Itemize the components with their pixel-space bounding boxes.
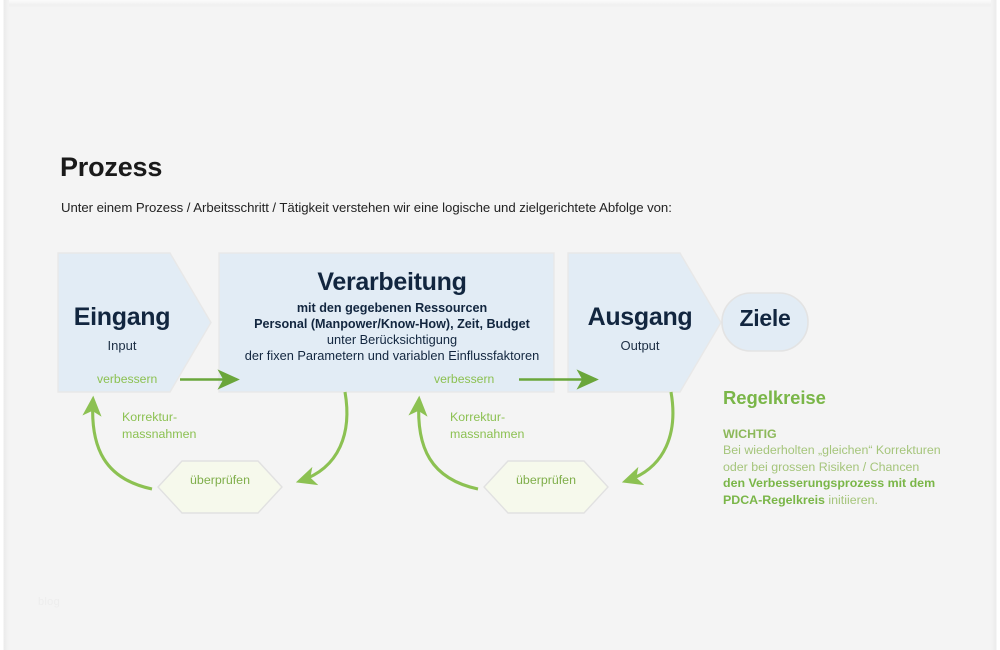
- page-subtitle: Unter einem Prozess / Arbeitsschritt / T…: [61, 200, 672, 215]
- note-line-1: Bei wiederholten „gleichen“ Korrekturen: [723, 442, 985, 458]
- loop1-correction-label: Korrektur- massnahmen: [122, 409, 196, 443]
- note-important-label: WICHTIG: [723, 426, 985, 442]
- note-line-3: den Verbesserungsprozess mit dem: [723, 475, 985, 491]
- loop1-check-label: überprüfen: [154, 473, 286, 487]
- stage-verarbeitung-details: mit den gegebenen Ressourcen Personal (M…: [216, 301, 568, 363]
- page-title: Prozess: [60, 152, 162, 183]
- watermark: blog: [38, 596, 60, 608]
- stage-eingang-title: Eingang: [62, 305, 182, 330]
- loop2-correction-line-2: massnahmen: [450, 426, 524, 443]
- sheet-edge-right: [991, 0, 1000, 650]
- loop2-improve-label: verbessern: [434, 372, 494, 386]
- regelkreise-note: WICHTIG Bei wiederholten „gleichen“ Korr…: [723, 426, 985, 508]
- sheet-edge-top: [0, 0, 1000, 8]
- loop2-correction-label: Korrektur- massnahmen: [450, 409, 524, 443]
- loop1-correction-line-2: massnahmen: [122, 426, 196, 443]
- regelkreise-heading: Regelkreise: [723, 387, 826, 409]
- loop2-check-label: überprüfen: [480, 473, 612, 487]
- loop1-correction-line-1: Korrektur-: [122, 409, 196, 426]
- verarbeitung-line-1: mit den gegebenen Ressourcen: [216, 301, 568, 317]
- stage-verarbeitung-title: Verarbeitung: [222, 268, 562, 297]
- sheet-edge-left: [0, 0, 9, 650]
- stage-ausgang-title: Ausgang: [572, 305, 708, 330]
- stage-eingang-subtitle: Input: [62, 339, 182, 352]
- verarbeitung-line-4: der fixen Parametern und variablen Einfl…: [216, 348, 568, 364]
- loop1-improve-label: verbessern: [97, 372, 157, 386]
- stage-ziele-title: Ziele: [722, 307, 808, 330]
- loop2-correction-line-1: Korrektur-: [450, 409, 524, 426]
- stage-ausgang-subtitle: Output: [572, 339, 708, 352]
- verarbeitung-line-2: Personal (Manpower/Know-How), Zeit, Budg…: [216, 317, 568, 333]
- note-pdca-rest: initiieren.: [825, 493, 878, 507]
- note-pdca-term: PDCA-Regelkreis: [723, 493, 825, 507]
- note-line-4: PDCA-Regelkreis initiieren.: [723, 492, 985, 508]
- verarbeitung-line-3: unter Berücksichtigung: [216, 332, 568, 348]
- note-line-2: oder bei grossen Risiken / Chancen: [723, 459, 985, 475]
